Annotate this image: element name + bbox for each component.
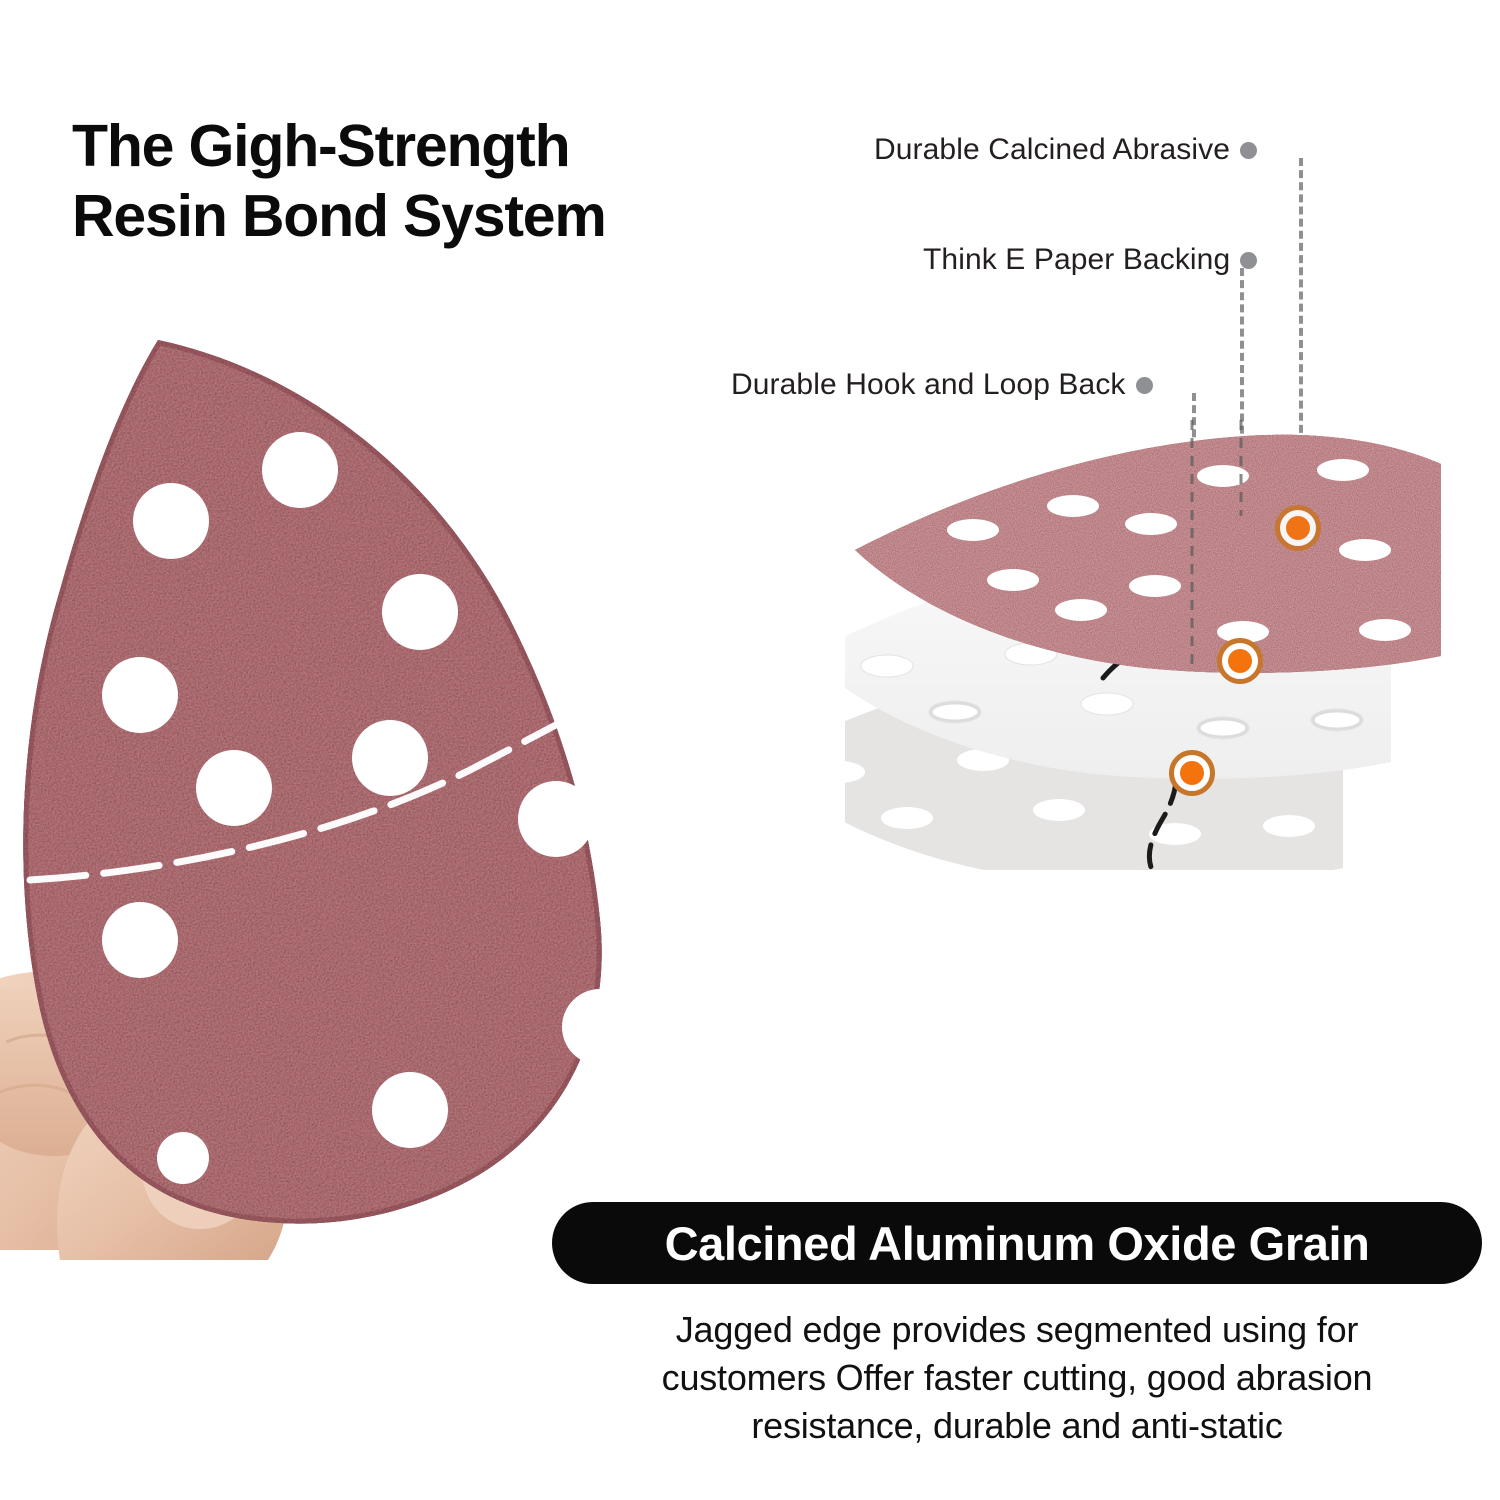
callout-label: Durable Calcined Abrasive: [874, 133, 1230, 167]
callout-durable-calcined-abrasive: Durable Calcined Abrasive: [874, 133, 1257, 167]
target-marker-icon: [1275, 505, 1321, 551]
infographic-canvas: The Gigh-Strength Resin Bond System: [0, 0, 1500, 1500]
callout-durable-hook-and-loop-back: Durable Hook and Loop Back: [731, 368, 1153, 402]
feature-description: Jagged edge provides segmented using for…: [552, 1306, 1482, 1451]
pin-marker-icon: [1136, 377, 1153, 394]
feature-banner: Calcined Aluminum Oxide Grain: [552, 1202, 1482, 1284]
callout-think-e-paper-backing: Think E Paper Backing: [923, 243, 1257, 277]
exploded-layer-diagram: [845, 420, 1485, 870]
sanding-pad-body: [0, 300, 700, 1250]
feature-banner-label: Calcined Aluminum Oxide Grain: [665, 1216, 1370, 1271]
page-title: The Gigh-Strength Resin Bond System: [72, 112, 772, 251]
callout-label: Durable Hook and Loop Back: [731, 368, 1126, 402]
callout-label: Think E Paper Backing: [923, 243, 1230, 277]
product-photo-main: [0, 300, 700, 1250]
pin-marker-icon: [1240, 252, 1257, 269]
target-marker-icon: [1217, 638, 1263, 684]
target-marker-icon: [1169, 750, 1215, 796]
pin-marker-icon: [1240, 142, 1257, 159]
